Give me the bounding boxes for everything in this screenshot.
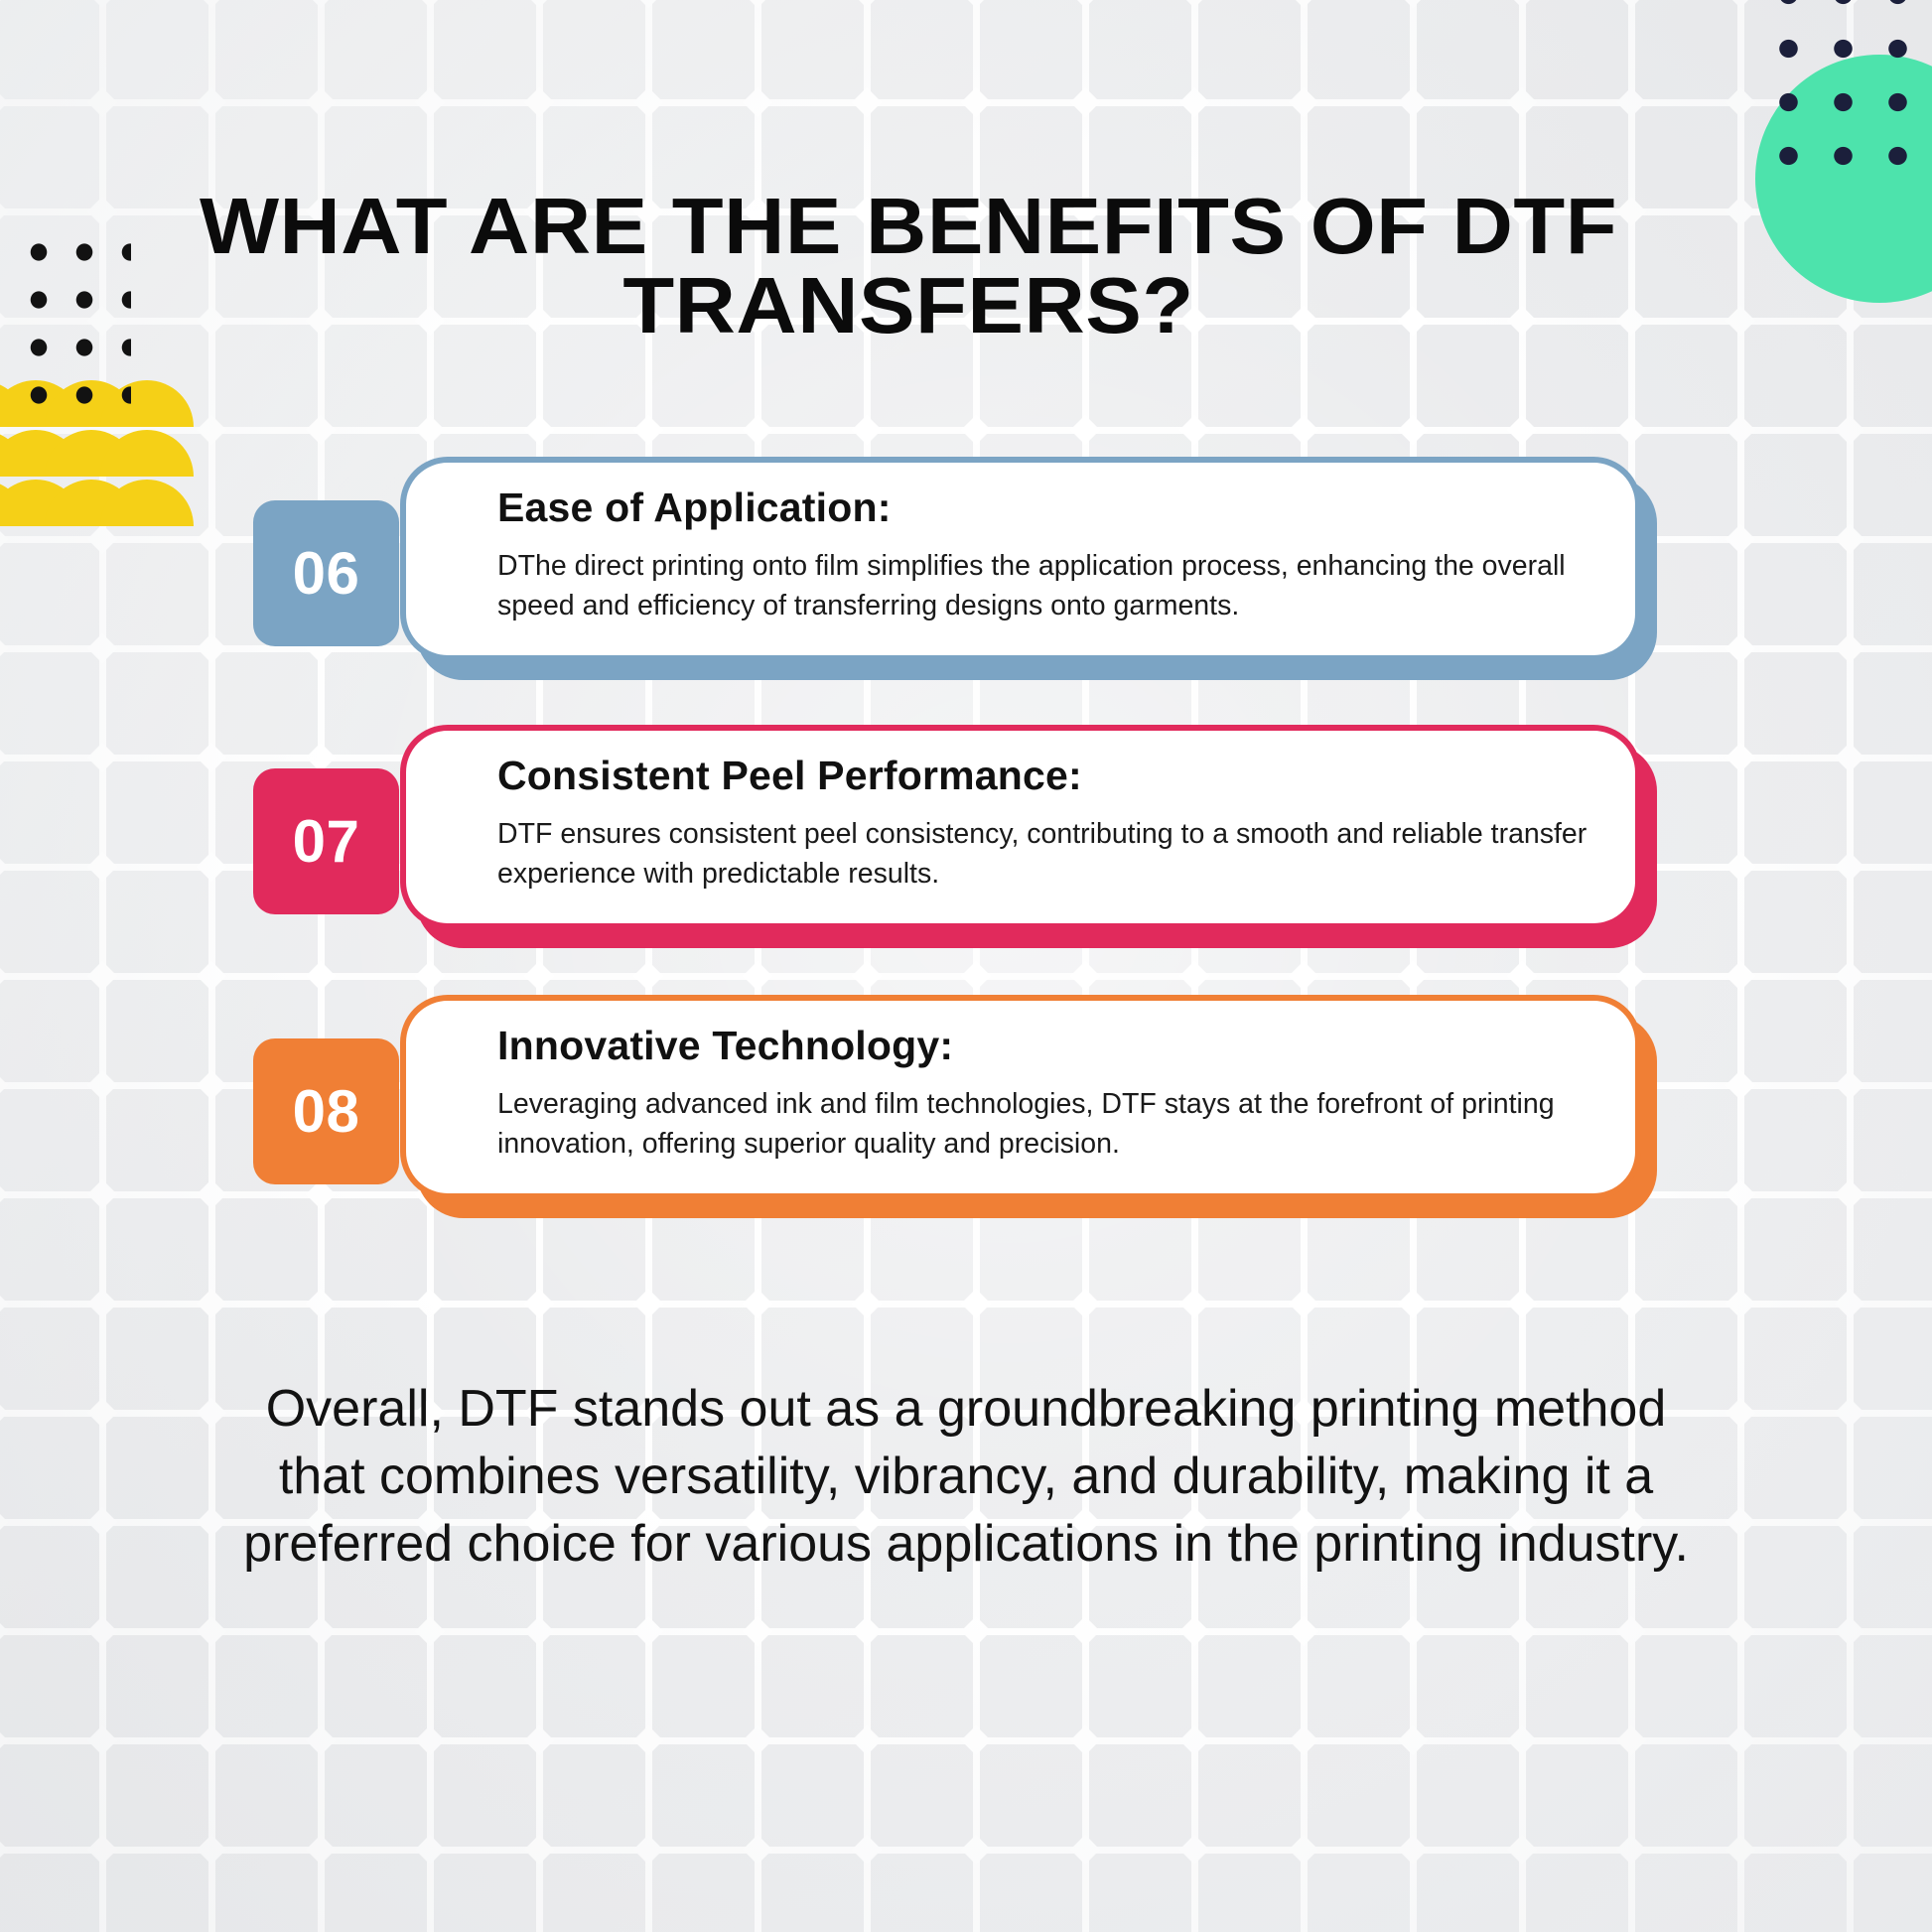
card-body-text: Leveraging advanced ink and film technol… — [497, 1084, 1599, 1165]
card-panel: Consistent Peel Performance: DTF ensures… — [400, 725, 1641, 929]
benefit-card-list: 06 Ease of Application: DThe direct prin… — [0, 0, 1932, 1932]
card-panel-wrapper: Innovative Technology: Leveraging advanc… — [400, 995, 1641, 1199]
card-body-text: DThe direct printing onto film simplifie… — [497, 546, 1599, 626]
card-title: Consistent Peel Performance: — [497, 753, 1082, 799]
card-panel: Innovative Technology: Leveraging advanc… — [400, 995, 1641, 1199]
card-number-badge: 07 — [253, 768, 399, 914]
infographic-poster: WHAT ARE THE BENEFITS OF DTF TRANSFERS? … — [0, 0, 1932, 1932]
card-panel-wrapper: Ease of Application: DThe direct printin… — [400, 457, 1641, 661]
card-number-badge: 06 — [253, 500, 399, 646]
summary-paragraph: Overall, DTF stands out as a groundbreak… — [241, 1375, 1691, 1578]
card-title: Innovative Technology: — [497, 1023, 953, 1069]
card-number-badge: 08 — [253, 1038, 399, 1184]
card-title: Ease of Application: — [497, 484, 892, 531]
card-body-text: DTF ensures consistent peel consistency,… — [497, 814, 1599, 895]
card-panel: Ease of Application: DThe direct printin… — [400, 457, 1641, 661]
card-panel-wrapper: Consistent Peel Performance: DTF ensures… — [400, 725, 1641, 929]
